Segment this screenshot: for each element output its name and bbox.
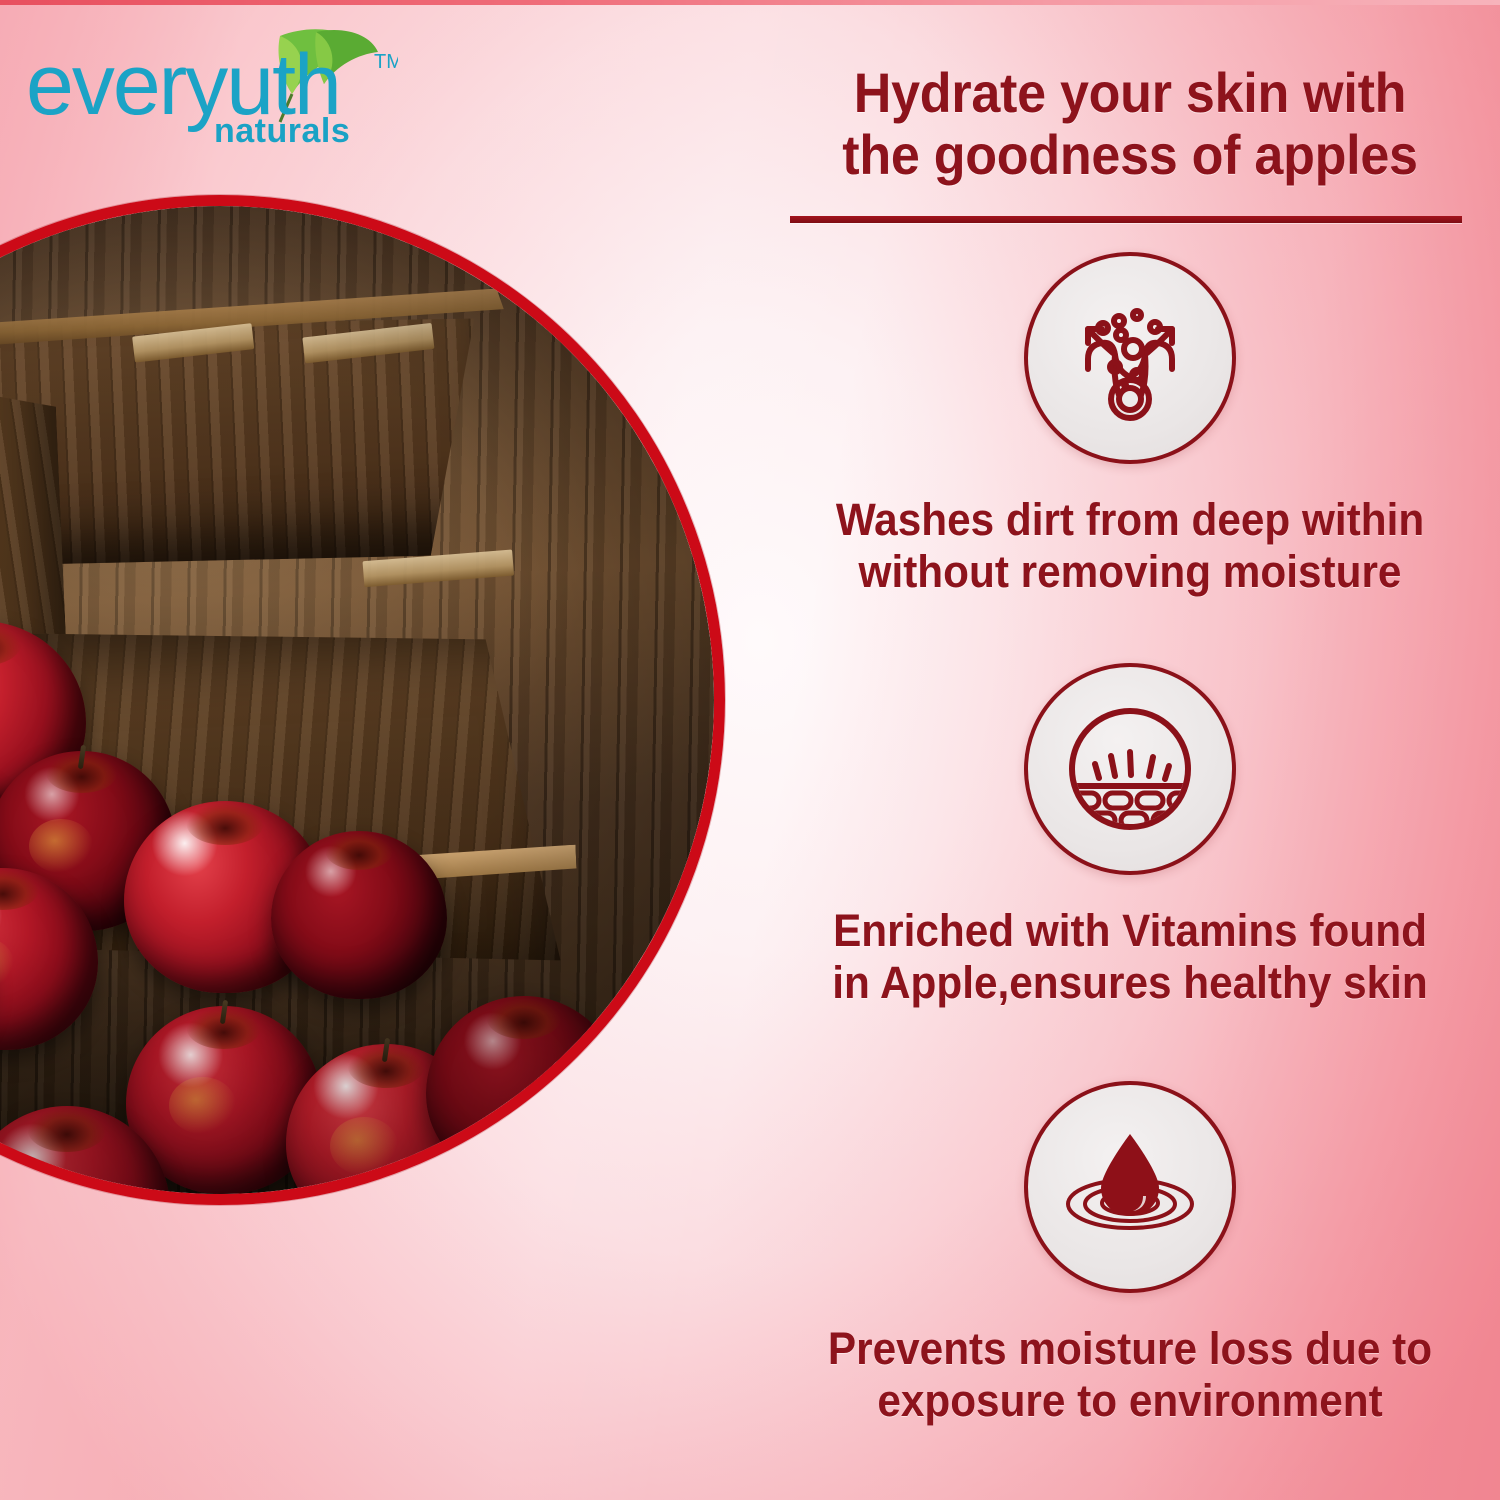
page-title: Hydrate your skin with the goodness of a… <box>805 0 1456 186</box>
benefit-caption: Prevents moisture loss due to exposure t… <box>806 1323 1455 1427</box>
benefit-item: Washes dirt from deep within without rem… <box>780 252 1480 598</box>
headline-line-1: Hydrate your skin with <box>805 62 1456 124</box>
title-divider <box>790 216 1462 223</box>
promo-poster: everyuth TM naturals <box>0 0 1500 1500</box>
content-column: Hydrate your skin with the goodness of a… <box>780 0 1480 1500</box>
pore-cleansing-icon <box>1024 252 1236 464</box>
brand-logo[interactable]: everyuth TM naturals <box>18 18 398 146</box>
skin-cells-icon <box>1024 663 1236 875</box>
benefit-caption: Enriched with Vitamins found in Apple,en… <box>806 905 1455 1009</box>
headline-line-2: the goodness of apples <box>805 124 1456 186</box>
benefit-line-2: in Apple,ensures healthy skin <box>806 957 1455 1009</box>
benefit-line-2: without removing moisture <box>806 546 1455 598</box>
benefit-line-1: Prevents moisture loss due to <box>806 1323 1455 1375</box>
benefit-line-2: exposure to environment <box>806 1375 1455 1427</box>
svg-text:TM: TM <box>374 51 398 73</box>
benefit-line-1: Enriched with Vitamins found <box>806 905 1455 957</box>
svg-text:naturals: naturals <box>214 112 350 146</box>
benefit-item: Enriched with Vitamins found in Apple,en… <box>780 663 1480 1009</box>
water-droplet-icon <box>1024 1081 1236 1293</box>
benefit-item: Prevents moisture loss due to exposure t… <box>780 1081 1480 1427</box>
benefit-caption: Washes dirt from deep within without rem… <box>806 494 1455 598</box>
benefit-line-1: Washes dirt from deep within <box>806 494 1455 546</box>
apple-crate-photo <box>0 195 725 1205</box>
